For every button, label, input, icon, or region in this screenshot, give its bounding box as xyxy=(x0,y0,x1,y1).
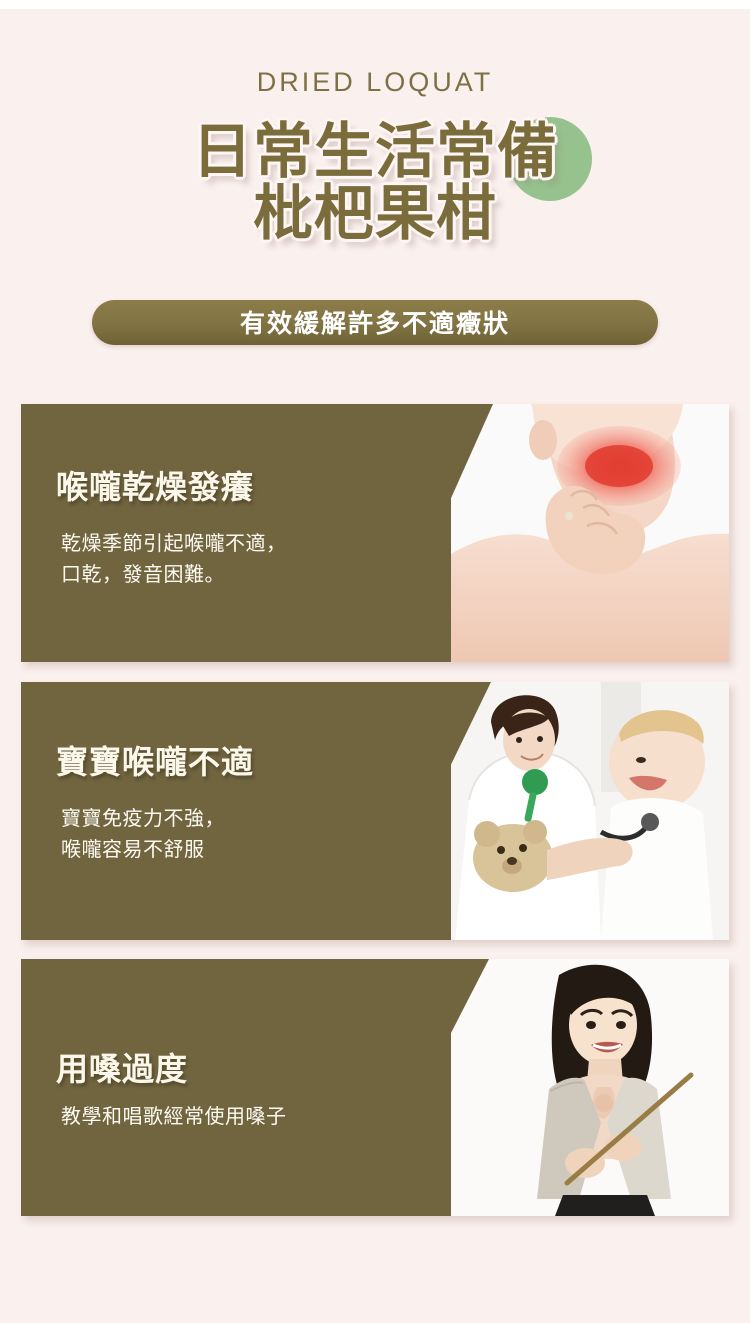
symptom-card-text: 寶寶喉嚨不適 寶寶免疫力不強， 喉嚨容易不舒服 xyxy=(21,682,491,940)
symptom-card-text: 喉嚨乾燥發癢 乾燥季節引起喉嚨不適， 口乾，發音困難。 xyxy=(21,404,491,662)
symptom-card: 寶寶喉嚨不適 寶寶免疫力不強， 喉嚨容易不舒服 xyxy=(21,682,729,940)
page-title: 日常生活常備 枇杷果柑 xyxy=(0,121,750,245)
symptom-card-description: 寶寶免疫力不強， 喉嚨容易不舒服 xyxy=(61,804,225,866)
eyebrow-label: DRIED LOQUAT xyxy=(0,67,750,98)
product-detail-page: DRIED LOQUAT 日常生活常備 枇杷果柑 有效緩解許多不適癥狀 xyxy=(0,0,750,1323)
symptom-card: 喉嚨乾燥發癢 乾燥季節引起喉嚨不適， 口乾，發音困難。 xyxy=(21,404,729,662)
symptom-card-description: 乾燥季節引起喉嚨不適， 口乾，發音困難。 xyxy=(61,529,287,591)
headline-line-2: 枇杷果柑 xyxy=(0,183,750,245)
symptom-card: 用嗓過度 教學和唱歌經常使用嗓子 xyxy=(21,959,729,1216)
teacher-pointer-illustration xyxy=(451,959,729,1216)
baby-checkup-photo xyxy=(451,682,729,940)
baby-checkup-illustration xyxy=(451,682,729,940)
symptom-card-title: 喉嚨乾燥發癢 xyxy=(56,462,254,508)
hero-section: DRIED LOQUAT 日常生活常備 枇杷果柑 有效緩解許多不適癥狀 xyxy=(0,9,750,389)
symptom-card-description-line: 乾燥季節引起喉嚨不適， xyxy=(61,529,287,560)
benefit-banner: 有效緩解許多不適癥狀 xyxy=(92,300,658,345)
top-white-strip xyxy=(0,0,750,9)
benefit-banner-label: 有效緩解許多不適癥狀 xyxy=(92,300,658,345)
sore-throat-photo xyxy=(451,404,729,662)
teacher-pointer-photo xyxy=(451,959,729,1216)
headline-line-1: 日常生活常備 xyxy=(0,121,750,183)
symptom-card-description-line: 喉嚨容易不舒服 xyxy=(61,835,225,866)
symptom-card-text: 用嗓過度 教學和唱歌經常使用嗓子 xyxy=(21,959,491,1216)
symptom-card-description-line: 口乾，發音困難。 xyxy=(61,560,287,591)
symptom-card-description-line: 教學和唱歌經常使用嗓子 xyxy=(61,1102,287,1133)
sore-throat-illustration xyxy=(451,404,729,662)
symptom-card-title: 用嗓過度 xyxy=(56,1044,188,1090)
symptom-card-title: 寶寶喉嚨不適 xyxy=(56,737,254,783)
symptom-card-description-line: 寶寶免疫力不強， xyxy=(61,804,225,835)
symptom-card-description: 教學和唱歌經常使用嗓子 xyxy=(61,1102,287,1133)
